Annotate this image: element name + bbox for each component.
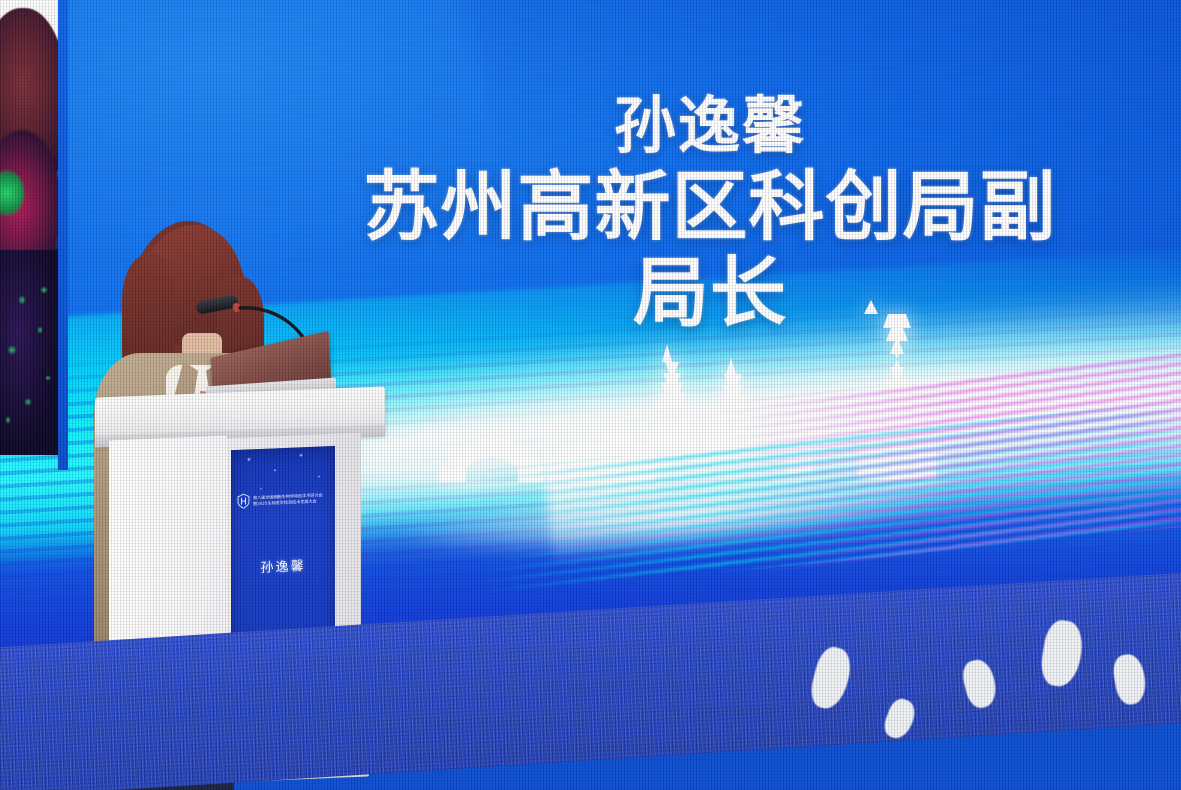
left-side-display-panel xyxy=(0,0,60,455)
panel-frame-edge xyxy=(58,0,68,470)
sign-logo-text: 第八届全国细胞生物学特色学术研讨会 暨2025生物医学检测技术发展大会 xyxy=(253,492,323,507)
panel-fluorescent-specks xyxy=(0,270,60,445)
conference-stage-photo: 孙逸馨 苏州高新区科创局副局长 xyxy=(0,0,1181,790)
conference-logo-icon xyxy=(237,493,250,509)
sign-speaker-name: 孙逸馨 xyxy=(231,554,335,577)
